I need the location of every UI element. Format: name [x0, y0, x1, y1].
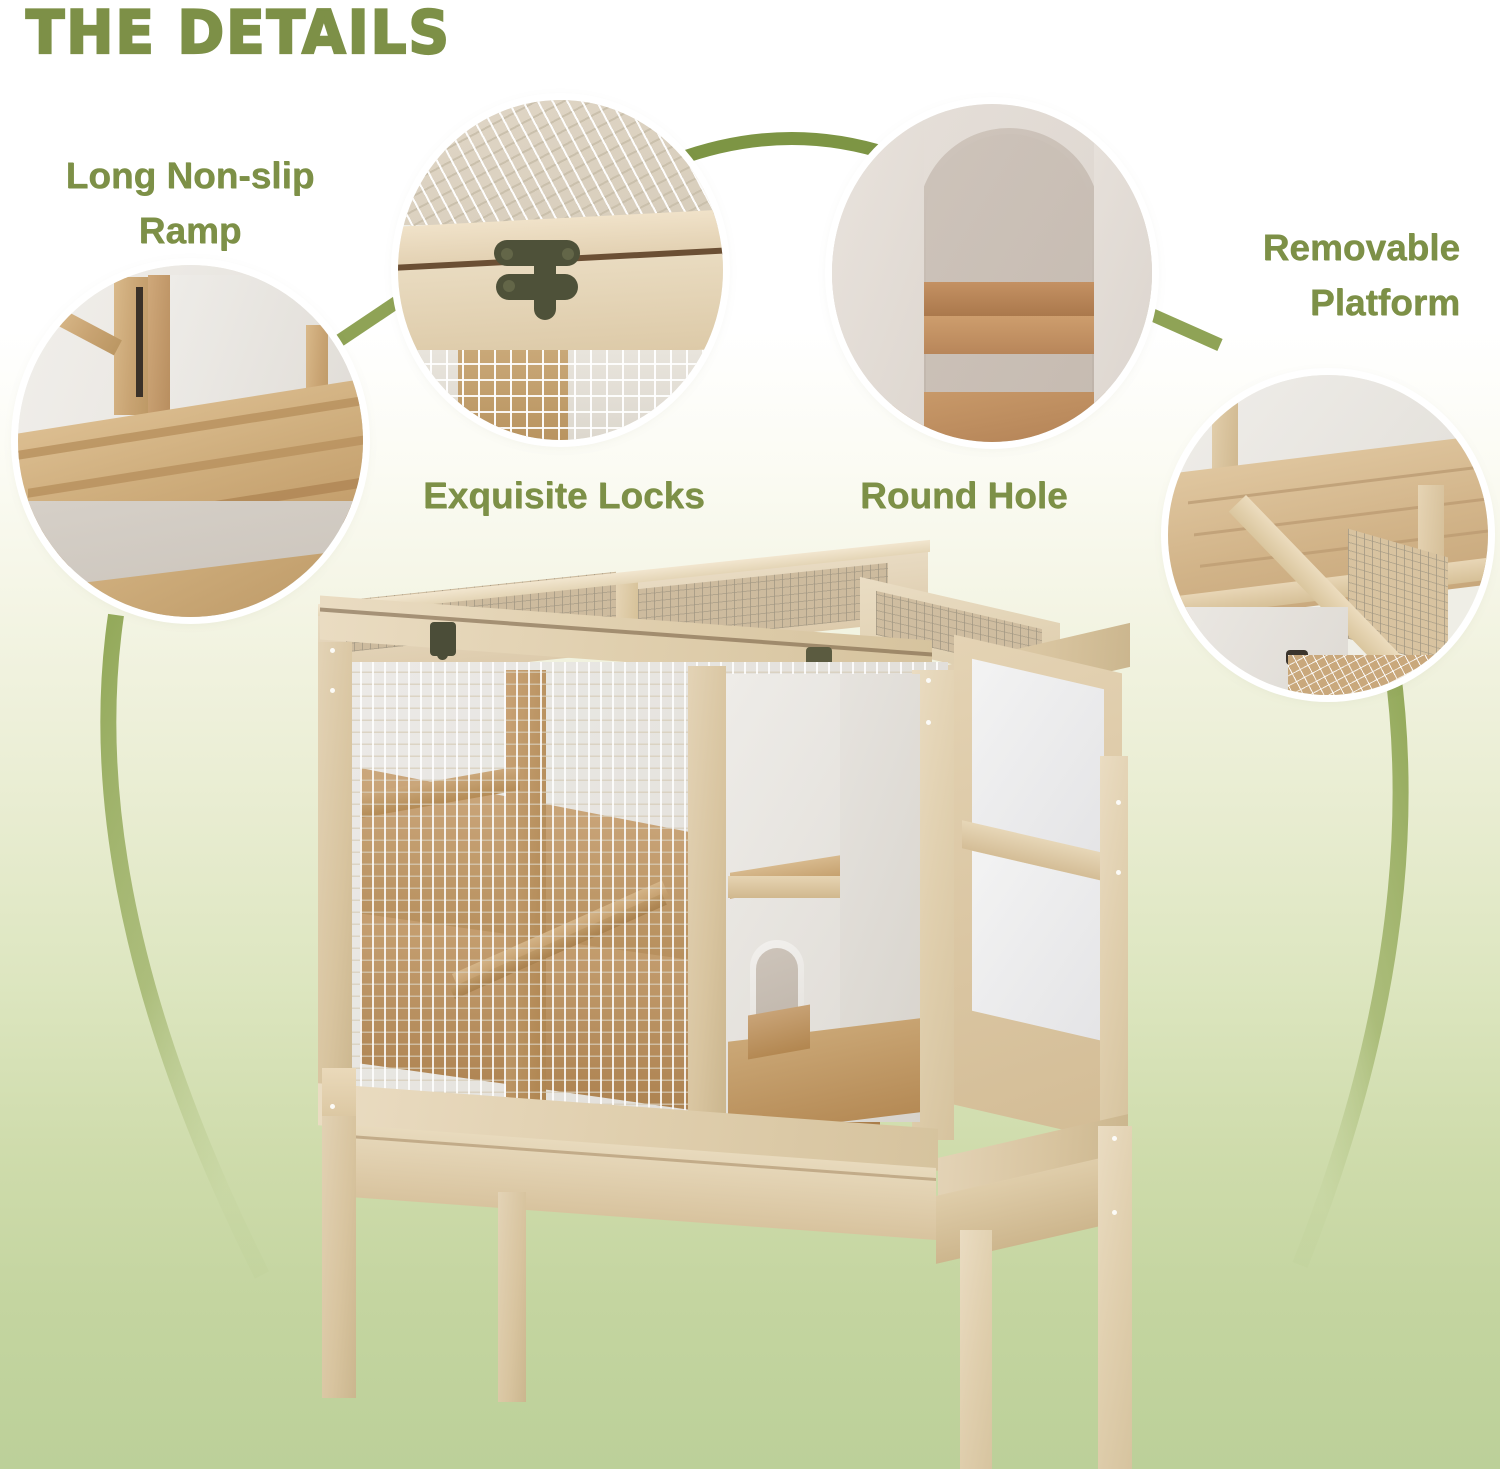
latch-icon [494, 240, 584, 340]
wire-mesh-icon [398, 100, 723, 228]
connector-ramp-to-product [108, 615, 262, 1275]
latch-icon-left [430, 622, 456, 656]
feature-label-ramp: Long Non-slip Ramp [40, 148, 340, 258]
leg-rear-right [960, 1230, 992, 1469]
feature-label-platform: Removable Platform [1140, 220, 1460, 330]
infographic-canvas: THE DETAILS Long Non-slip Ramp Exquisite [0, 0, 1500, 1469]
feature-photo-round-hole [832, 104, 1152, 442]
leg-front-left [322, 1068, 356, 1398]
feature-photo-platform [1168, 375, 1488, 695]
feature-photo-ramp [18, 265, 363, 617]
connector-platform-to-product [1300, 665, 1401, 1265]
front-middle-post [688, 666, 726, 1118]
feature-label-locks: Exquisite Locks [423, 468, 743, 523]
product-image [300, 570, 1130, 1450]
leg-front-right [1098, 1126, 1132, 1469]
feature-photo-locks [398, 100, 723, 440]
feature-label-round-hole: Round Hole [860, 468, 1160, 523]
front-left-post [318, 642, 352, 1122]
side-white-panel-bottom [972, 851, 1104, 1041]
leg-rear-left [498, 1192, 526, 1402]
